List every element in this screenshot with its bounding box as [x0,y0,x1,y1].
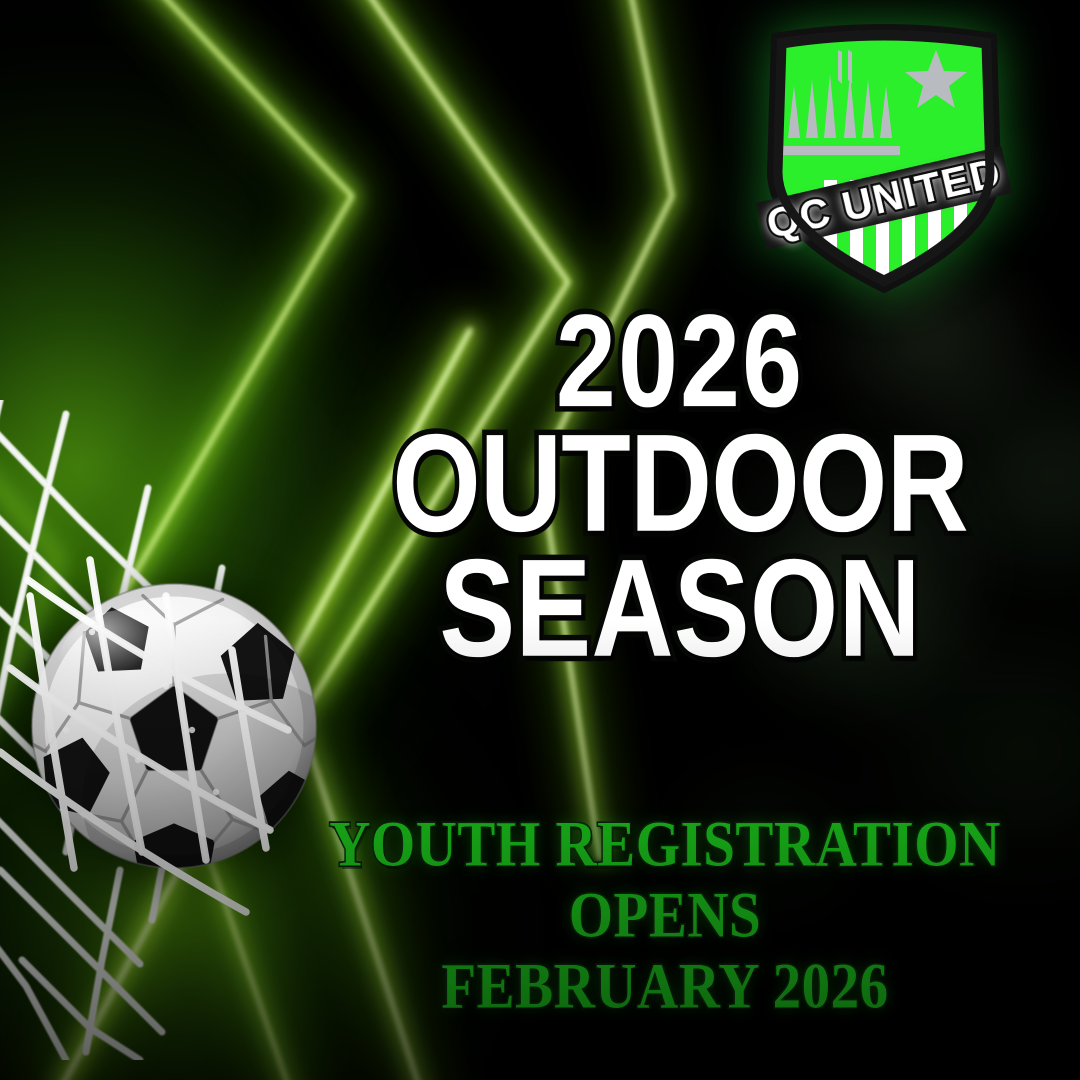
headline-year: 2026 [300,300,1060,421]
bottom-fade-overlay [0,620,1080,1080]
season-announcement-poster: QC UNITED 2026 OUTDOOR SEASON YOUTH REGI… [0,0,1080,1080]
headline-outdoor: OUTDOOR [300,421,1060,549]
club-shield-crest[interactable]: QC UNITED [752,22,1016,294]
headline-block: 2026 OUTDOOR SEASON [300,300,1060,651]
